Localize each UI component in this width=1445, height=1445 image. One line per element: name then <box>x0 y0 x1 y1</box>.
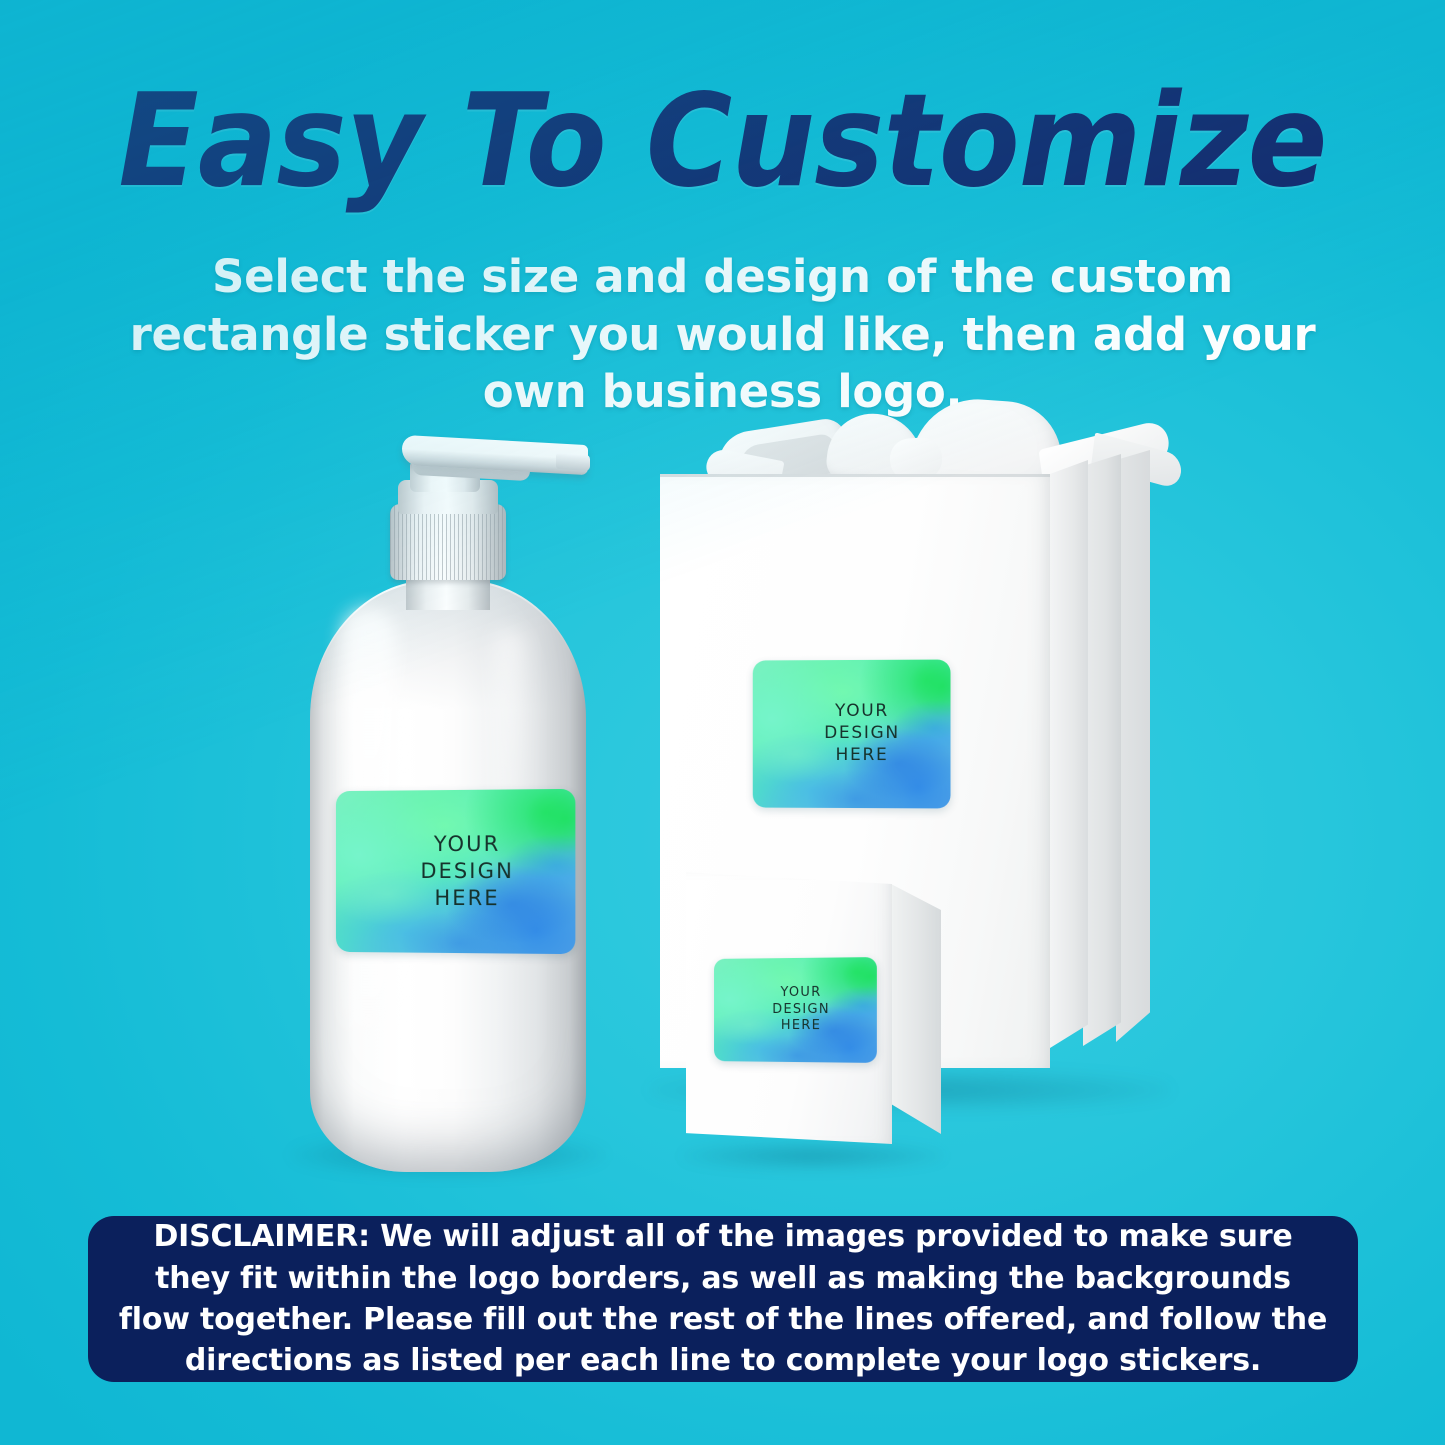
sticker-label-text: YOUR DESIGN HERE <box>395 831 514 912</box>
sticker-label-text: YOUR DESIGN HERE <box>802 701 900 766</box>
bottle-pump-collar <box>390 504 506 580</box>
page-subtitle: Select the size and design of the custom… <box>88 248 1357 421</box>
bottle-pump-nozzle-tip <box>556 453 590 471</box>
page-title: Easy To Customize <box>58 78 1387 206</box>
small-box-side <box>891 884 941 1134</box>
disclaimer-text: DISCLAIMER: We will adjust all of the im… <box>118 1216 1328 1382</box>
sticker-preview-bottle[interactable]: YOUR DESIGN HERE <box>336 789 575 954</box>
gift-box-side-back <box>1116 450 1150 1042</box>
gift-box-side <box>1050 460 1088 1048</box>
disclaimer-banner: DISCLAIMER: We will adjust all of the im… <box>88 1216 1358 1382</box>
gift-box-lid-seam <box>660 474 1050 477</box>
sticker-label-text: YOUR DESIGN HERE <box>759 985 830 1035</box>
promo-canvas: Easy To Customize Select the size and de… <box>0 0 1445 1445</box>
disclaimer-label: DISCLAIMER: <box>153 1219 369 1254</box>
small-box-shadow <box>682 1142 944 1170</box>
sticker-preview-small-box[interactable]: YOUR DESIGN HERE <box>714 957 877 1063</box>
sticker-preview-gift-box[interactable]: YOUR DESIGN HERE <box>753 660 951 809</box>
gift-box-side-mid <box>1083 454 1121 1046</box>
